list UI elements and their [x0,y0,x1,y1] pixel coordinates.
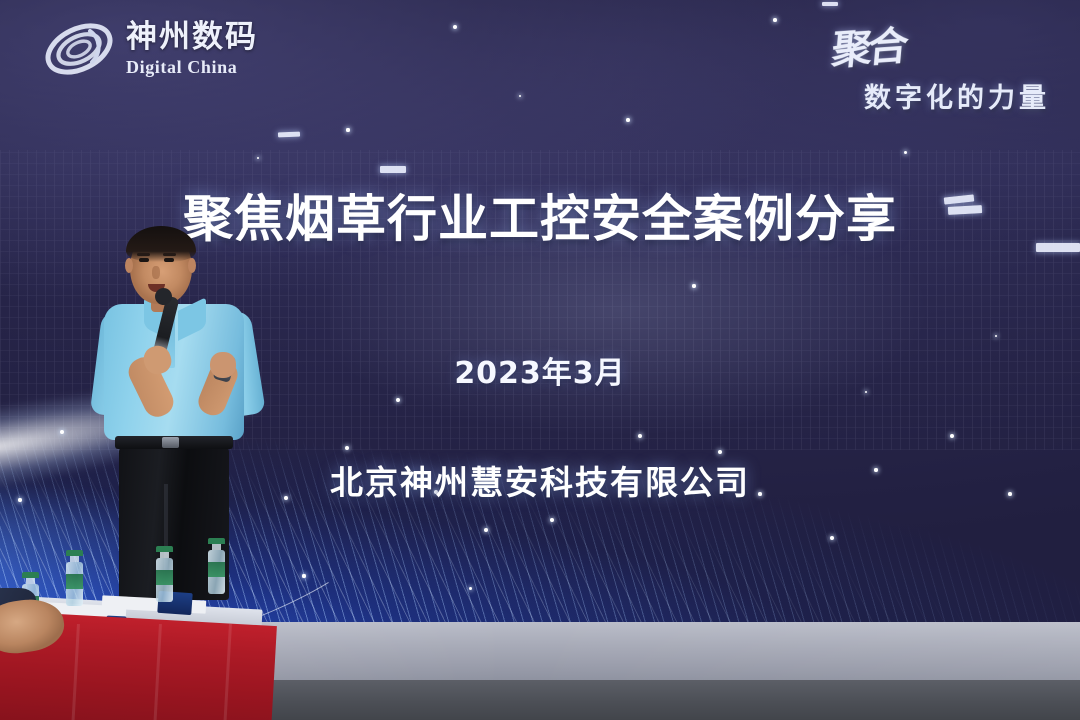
digital-china-logo: 神州数码 Digital China [42,18,258,80]
event-logo-tagline: 数字化的力量 [864,76,1050,115]
presenter-hair [126,226,196,262]
light-particle [453,25,457,29]
presenter-eye-left [139,258,149,262]
presenter-ear-left [125,258,133,273]
light-particle [257,157,260,160]
light-streak [380,166,406,173]
presenter-ear-right [188,258,196,273]
presenter-hand-right [210,352,236,378]
logo-chinese-name: 神州数码 [126,22,258,53]
screenshot-root: 神州数码 Digital China 聚合 数字化的力量 聚焦烟草行业工控安全案… [0,0,1080,720]
light-particle [346,128,349,131]
light-streak [278,132,300,138]
water-bottle [66,550,83,606]
digital-china-swirl-logo [42,18,116,80]
light-particle [904,151,907,154]
presenter-brow-left [137,253,150,256]
light-particle [519,95,522,98]
presenter-brow-right [163,253,176,256]
logo-english-name: Digital China [126,58,258,76]
light-streak [822,2,838,6]
belt-buckle [162,437,179,448]
light-particle [626,118,630,122]
event-logo: 聚合 数字化的力量 [806,14,1056,120]
water-bottle [156,546,173,602]
presenter-nose [152,266,160,279]
water-bottle [208,538,225,594]
presenter-figure [92,228,262,600]
light-particle [773,18,777,22]
light-particle [692,284,695,287]
presenter-eye-right [164,258,174,262]
